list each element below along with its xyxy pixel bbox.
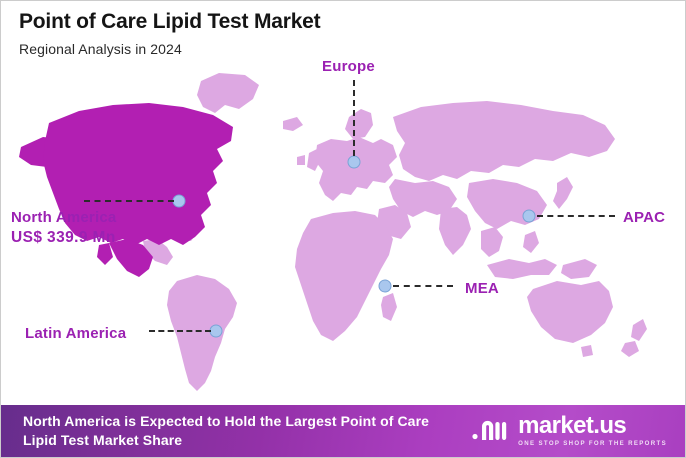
leader-line-apac xyxy=(537,215,615,217)
brand-text-group: market.us ONE STOP SHOP FOR THE REPORTS xyxy=(518,414,667,447)
region-label-apac[interactable]: APAC xyxy=(623,208,665,228)
marker-mea[interactable] xyxy=(379,280,392,293)
brand-name: market.us xyxy=(518,414,667,438)
world-map-container: North America US$ 339.9 Mn Europe APAC M… xyxy=(1,53,686,407)
banner-caption: North America is Expected to Hold the La… xyxy=(23,412,463,450)
region-label-latin-america[interactable]: Latin America xyxy=(25,324,126,344)
region-name-europe: Europe xyxy=(322,58,375,75)
marker-latin-america[interactable] xyxy=(210,325,223,338)
region-name-apac: APAC xyxy=(623,209,665,226)
map-region-north-america xyxy=(19,103,233,277)
region-label-mea[interactable]: MEA xyxy=(465,279,499,299)
marker-apac[interactable] xyxy=(523,210,536,223)
region-label-north-america[interactable]: North America US$ 339.9 Mn xyxy=(11,208,116,249)
region-name-latin-america: Latin America xyxy=(25,325,126,342)
leader-line-europe xyxy=(353,80,355,156)
leader-line-mea xyxy=(393,285,453,287)
header: Point of Care Lipid Test Market Regional… xyxy=(19,9,539,57)
marker-europe[interactable] xyxy=(348,156,361,169)
brand-tagline: ONE STOP SHOP FOR THE REPORTS xyxy=(518,441,667,447)
brand-logo[interactable]: market.us ONE STOP SHOP FOR THE REPORTS xyxy=(471,414,673,447)
footer-banner: North America is Expected to Hold the La… xyxy=(1,405,686,457)
region-name-mea: MEA xyxy=(465,280,499,297)
leader-line-latin-america xyxy=(149,330,211,332)
page-title: Point of Care Lipid Test Market xyxy=(19,9,539,34)
region-name-north-america: North America xyxy=(11,209,116,226)
region-label-europe[interactable]: Europe xyxy=(322,57,375,77)
region-value-north-america: US$ 339.9 Mn xyxy=(11,228,116,249)
market-us-bars-icon xyxy=(471,416,511,446)
marker-north-america[interactable] xyxy=(173,195,186,208)
leader-line-north-america xyxy=(84,200,174,202)
infographic-card: Point of Care Lipid Test Market Regional… xyxy=(0,0,686,458)
